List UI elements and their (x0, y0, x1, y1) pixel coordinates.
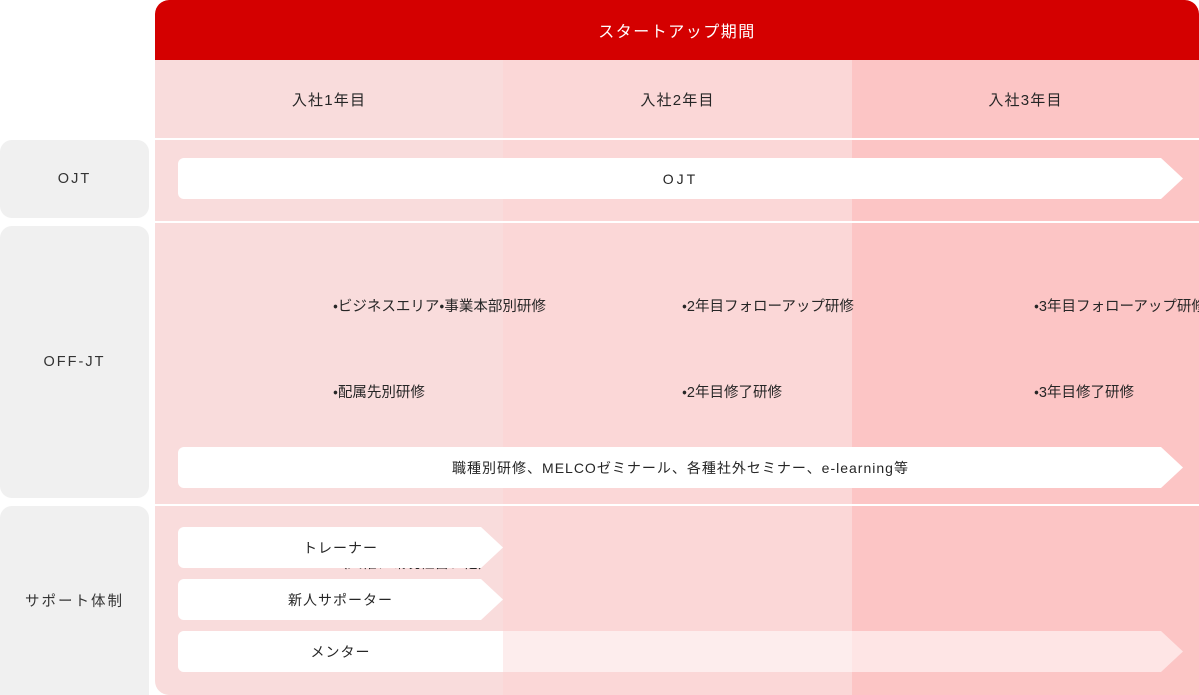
section-divider (155, 504, 1199, 506)
offjt-arrow-bar: 職種別研修、MELCOゼミナール、各種社外セミナー、e-learning等 (178, 447, 1183, 488)
panel-title-band: スタートアップ期間 (155, 0, 1199, 60)
list-item: ・配属先別研修 (333, 379, 565, 408)
section-divider (155, 221, 1199, 223)
year-header-label: 入社2年目 (640, 89, 714, 110)
sidebar-item-label: OJT (58, 171, 91, 187)
year-header-year2: 入社2年目 (503, 60, 852, 138)
sidebar-item-offjt: OFF-JT (0, 226, 149, 498)
support-arrow-newcomer-supporter: 新人サポーター (178, 579, 503, 620)
sidebar-item-label: サポート体制 (25, 590, 124, 611)
offjt-arrow-label: 職種別研修、MELCOゼミナール、各種社外セミナー、e-learning等 (452, 458, 909, 478)
offjt-bullets-year2: ・2年目フォローアップ研修 ・2年目修了研修 (682, 236, 854, 464)
support-arrow-trainer: トレーナー (178, 527, 503, 568)
support-arrow-label: メンター (178, 631, 503, 672)
year-header-year3: 入社3年目 (852, 60, 1199, 138)
timeline-panel: スタートアップ期間 入社1年目 入社2年目 入社3年目 OJT ・ビジネスエリア… (155, 0, 1199, 695)
sidebar-item-ojt: OJT (0, 140, 149, 218)
year-header-label: 入社1年目 (292, 89, 366, 110)
section-divider (155, 138, 1199, 140)
sidebar-item-support: サポート体制 (0, 506, 149, 695)
training-roadmap-diagram: OJT OFF-JT サポート体制 スタートアップ期間 入社1年目 入社2年目 (0, 0, 1199, 695)
list-item: ・2年目修了研修 (682, 379, 854, 408)
list-item: ・3年目フォローアップ研修 (1034, 293, 1199, 322)
support-arrow-mentor: メンター (178, 631, 1183, 672)
page-title: スタートアップ期間 (598, 18, 756, 42)
list-item: ・3年目修了研修 (1034, 379, 1199, 408)
ojt-arrow-label: OJT (663, 171, 698, 187)
year-header-row: 入社1年目 入社2年目 入社3年目 (155, 60, 1199, 138)
list-item: ・2年目フォローアップ研修 (682, 293, 854, 322)
category-sidebar: OJT OFF-JT サポート体制 (0, 0, 149, 695)
year-header-label: 入社3年目 (988, 89, 1062, 110)
sidebar-item-label: OFF-JT (44, 354, 106, 370)
list-item: ・ビジネスエリア・事業本部別研修 (333, 293, 565, 322)
support-arrow-label: トレーナー (303, 538, 378, 558)
support-arrow-label: 新人サポーター (288, 590, 393, 610)
year-header-year1: 入社1年目 (155, 60, 503, 138)
ojt-arrow-bar: OJT (178, 158, 1183, 199)
offjt-bullets-year3: ・3年目フォローアップ研修 ・3年目修了研修 (1034, 236, 1199, 464)
